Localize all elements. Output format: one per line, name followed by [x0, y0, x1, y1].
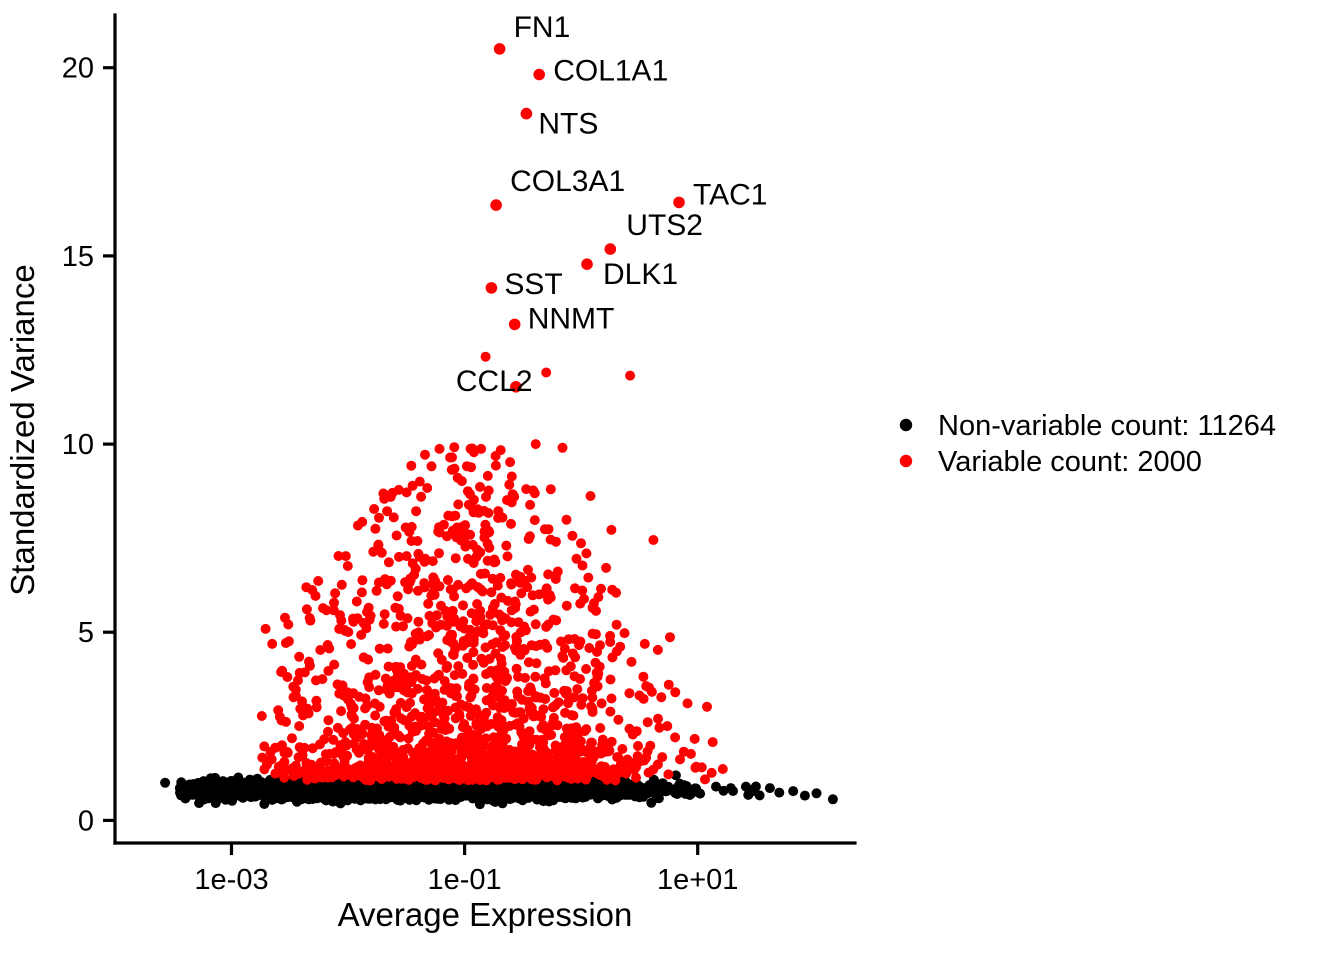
y-tick-label-20: 20 [62, 53, 94, 85]
x-tick-label-1e-01: 1e-01 [428, 864, 502, 896]
gene-label-tac1: TAC1 [693, 178, 767, 211]
x-axis-title: Average Expression [338, 896, 633, 933]
y-tick-label-0: 0 [78, 805, 94, 837]
legend-label-non-variable: Non-variable count: 11264 [938, 410, 1276, 442]
x-axis-ticks: 1e-031e-011e+01 [194, 843, 738, 896]
gene-label-col3a1: COL3A1 [510, 165, 625, 198]
legend-label-variable: Variable count: 2000 [938, 446, 1202, 478]
legend-key-non-variable [900, 419, 912, 431]
variable-points-layer [257, 43, 728, 785]
y-tick-label-10: 10 [62, 429, 94, 461]
gene-label-nnmt: NNMT [528, 302, 615, 335]
gene-label-sst: SST [504, 268, 562, 301]
y-tick-label-15: 15 [62, 241, 94, 273]
y-axis-ticks: 05101520 [62, 53, 115, 838]
legend: Non-variable count: 11264Variable count:… [900, 410, 1276, 478]
gene-label-nts: NTS [538, 108, 598, 141]
gene-label-fn1: FN1 [514, 11, 571, 44]
gene-annotation-layer: FN1COL1A1NTSCOL3A1TAC1UTS2DLK1SSTNNMTCCL… [456, 11, 768, 398]
variable-features-plot: 05101520 1e-031e-011e+01 Average Express… [0, 0, 1344, 960]
y-tick-label-5: 5 [78, 617, 94, 649]
gene-label-dlk1: DLK1 [603, 258, 678, 291]
legend-key-variable [900, 455, 912, 467]
scatter-plot-canvas: 05101520 1e-031e-011e+01 Average Express… [0, 0, 1344, 960]
gene-label-uts2: UTS2 [626, 209, 703, 242]
x-tick-label-1e-03: 1e-03 [194, 864, 268, 896]
gene-label-col1a1: COL1A1 [553, 55, 668, 88]
x-tick-label-1e+01: 1e+01 [657, 864, 738, 896]
gene-label-ccl2: CCL2 [456, 365, 533, 398]
y-axis-title: Standardized Variance [4, 264, 41, 595]
